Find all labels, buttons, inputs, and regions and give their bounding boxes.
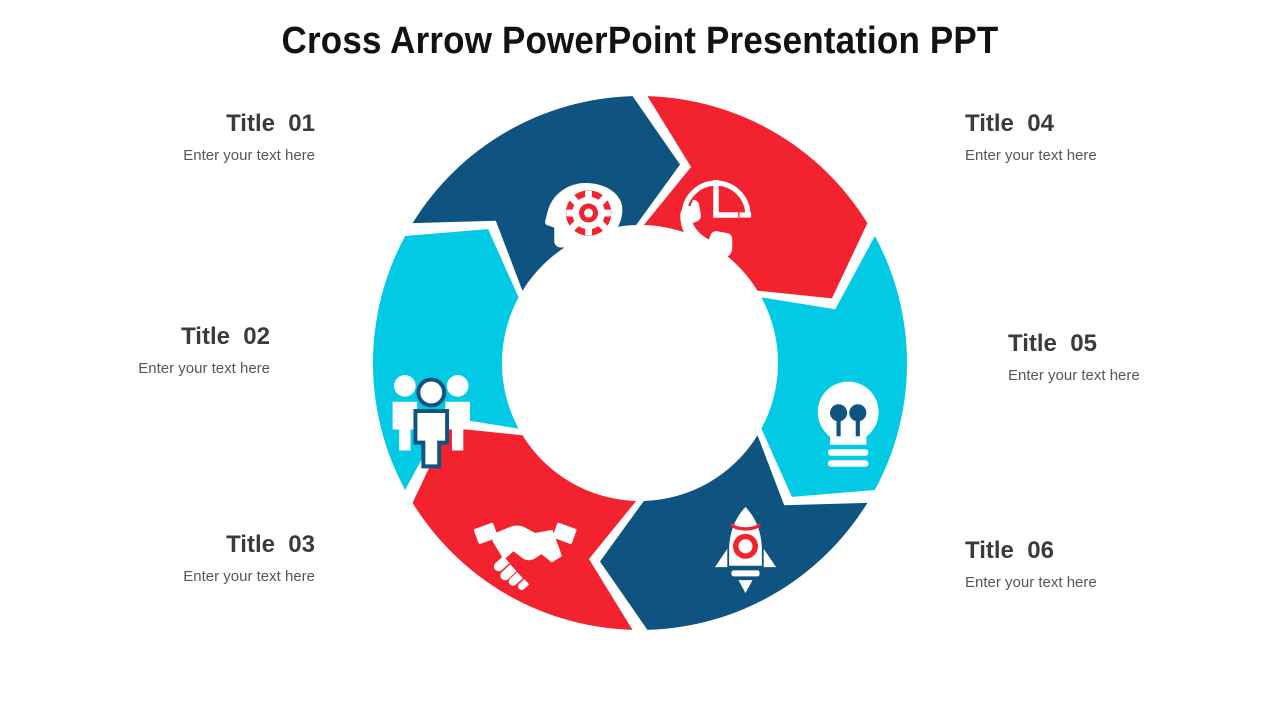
label-title-02: Title 02 xyxy=(0,323,270,351)
label-title-03: Title 03 xyxy=(45,531,315,559)
label-subtitle-04: Enter your text here xyxy=(965,146,1235,166)
label-title-06: Title 06 xyxy=(965,537,1235,565)
label-subtitle-02: Enter your text here xyxy=(0,359,270,379)
ring-segment-1[interactable] xyxy=(644,96,868,298)
label-title-04: Title 04 xyxy=(965,110,1235,138)
label-title-01: Title 01 xyxy=(45,110,315,138)
page-title: Cross Arrow PowerPoint Presentation PPT xyxy=(51,20,1229,63)
label-block-06[interactable]: Title 06 Enter your text here xyxy=(965,537,1235,592)
label-subtitle-01: Enter your text here xyxy=(45,146,315,166)
presentation-slide: Cross Arrow PowerPoint Presentation PPT xyxy=(0,0,1280,720)
label-block-05[interactable]: Title 05 Enter your text here xyxy=(1008,330,1278,385)
label-subtitle-05: Enter your text here xyxy=(1008,366,1278,386)
label-block-01[interactable]: Title 01 Enter your text here xyxy=(45,110,315,165)
label-block-02[interactable]: Title 02 Enter your text here xyxy=(0,323,270,378)
label-subtitle-03: Enter your text here xyxy=(45,567,315,587)
label-block-03[interactable]: Title 03 Enter your text here xyxy=(45,531,315,586)
cross-arrow-ring-diagram xyxy=(355,78,925,648)
label-block-04[interactable]: Title 04 Enter your text here xyxy=(965,110,1235,165)
label-title-05: Title 05 xyxy=(1008,330,1278,358)
label-subtitle-06: Enter your text here xyxy=(965,573,1235,593)
